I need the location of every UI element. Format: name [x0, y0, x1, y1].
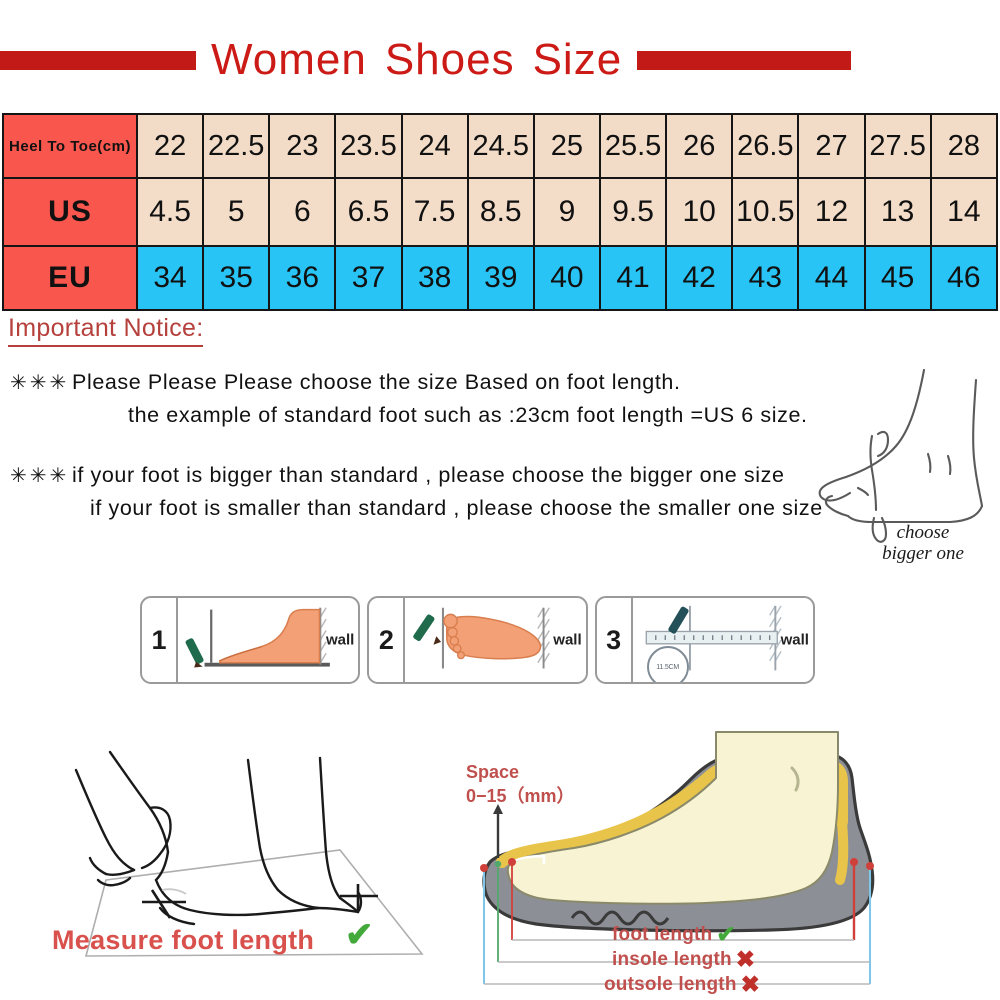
cell-cm-7: 25.5 [600, 114, 666, 178]
notice-list: ✳✳✳ Please Please Please choose the size… [10, 366, 840, 529]
step-number-2: 2 [369, 598, 405, 682]
step-1-illustration: wall [178, 598, 358, 682]
cell-cm-0: 22 [137, 114, 203, 178]
cell-cm-8: 26 [666, 114, 732, 178]
cell-eu-9: 43 [732, 246, 798, 310]
cell-cm-1: 22.5 [203, 114, 269, 178]
step-panel-3: 3 [595, 596, 815, 684]
size-chart-table: Heel To Toe(cm) 22 22.5 23 23.5 24 24.5 … [2, 113, 998, 311]
legend-insole-length: insole length ✖ [612, 947, 760, 972]
title-word-2: Shoes [385, 35, 515, 84]
legend-foot-length-label: foot length [612, 925, 712, 944]
cell-us-2: 6 [269, 178, 335, 246]
step-panel-1: 1 w [140, 596, 360, 684]
cell-us-9: 10.5 [732, 178, 798, 246]
step-3-measure-badge: 11.5CM [647, 646, 689, 684]
notice-1-line-1: Please Please Please choose the size Bas… [72, 370, 681, 394]
notice-bullet-1: ✳✳✳ Please Please Please choose the size… [10, 366, 840, 433]
table-row-eu: EU 34 35 36 37 38 39 40 41 42 43 44 45 4… [3, 246, 997, 310]
cross-mark-icon: ✖ [736, 948, 755, 971]
cell-us-11: 13 [865, 178, 931, 246]
page-title: WomenShoesSize [202, 38, 631, 82]
foot-caption-line-2: bigger one [848, 543, 998, 564]
cell-cm-4: 24 [402, 114, 468, 178]
important-notice-heading: Important Notice: [8, 314, 203, 347]
cell-eu-7: 41 [600, 246, 666, 310]
space-gap-label: Space 0−15（mm） [466, 760, 575, 809]
asterisk-icon: ✳✳✳ [10, 459, 72, 488]
asterisk-icon: ✳✳✳ [10, 366, 72, 395]
notice-2-line-2: if your foot is smaller than standard , … [72, 492, 823, 525]
table-row-heel-to-toe: Heel To Toe(cm) 22 22.5 23 23.5 24 24.5 … [3, 114, 997, 178]
notice-1-line-2: the example of standard foot such as :23… [72, 399, 808, 432]
table-row-us: US 4.5 5 6 6.5 7.5 8.5 9 9.5 10 10.5 12 … [3, 178, 997, 246]
title-word-1: Women [211, 35, 367, 84]
cell-cm-2: 23 [269, 114, 335, 178]
legend-insole-length-label: insole length [612, 950, 732, 969]
cell-eu-10: 44 [798, 246, 864, 310]
cell-cm-12: 28 [931, 114, 997, 178]
cell-eu-1: 35 [203, 246, 269, 310]
measure-foot-illustration [10, 712, 430, 1000]
cell-us-12: 14 [931, 178, 997, 246]
cell-us-1: 5 [203, 178, 269, 246]
title-rule-right [637, 51, 851, 70]
measurement-steps: 1 w [140, 596, 815, 684]
step-3-illustration: 11.5CM wall [633, 598, 813, 682]
cell-eu-11: 45 [865, 246, 931, 310]
check-mark-icon: ✔ [716, 923, 735, 946]
space-label-line-2: 0−15（mm） [466, 784, 575, 808]
page-title-bar: WomenShoesSize [0, 32, 1000, 88]
cell-us-3: 6.5 [335, 178, 401, 246]
cell-cm-6: 25 [534, 114, 600, 178]
cross-mark-icon: ✖ [741, 973, 760, 996]
cell-cm-5: 24.5 [468, 114, 534, 178]
check-mark-icon: ✔ [345, 918, 374, 952]
cell-cm-10: 27 [798, 114, 864, 178]
legend-outsole-length: outsole length ✖ [604, 972, 760, 997]
title-rule-left [0, 51, 196, 70]
foot-caption-line-1: choose [848, 522, 998, 543]
cell-us-4: 7.5 [402, 178, 468, 246]
space-label-line-1: Space [466, 760, 575, 784]
cell-cm-11: 27.5 [865, 114, 931, 178]
legend-foot-length: foot length ✔ [612, 922, 760, 947]
notice-bullet-1-text: Please Please Please choose the size Bas… [72, 366, 808, 433]
cell-eu-2: 36 [269, 246, 335, 310]
notice-bullet-2: ✳✳✳ if your foot is bigger than standard… [10, 459, 840, 526]
cell-us-5: 8.5 [468, 178, 534, 246]
measure-foot-length-label: Measure foot length [52, 925, 314, 956]
cell-us-0: 4.5 [137, 178, 203, 246]
cell-eu-0: 34 [137, 246, 203, 310]
step-panel-2: 2 [367, 596, 587, 684]
cell-us-7: 9.5 [600, 178, 666, 246]
step-1-wall-label: wall [326, 632, 354, 649]
step-2-wall-label: wall [553, 632, 581, 649]
row-label-heel-to-toe: Heel To Toe(cm) [3, 114, 137, 178]
cell-eu-5: 39 [468, 246, 534, 310]
cell-eu-6: 40 [534, 246, 600, 310]
cell-cm-3: 23.5 [335, 114, 401, 178]
cell-cm-9: 26.5 [732, 114, 798, 178]
cell-eu-8: 42 [666, 246, 732, 310]
cell-us-6: 9 [534, 178, 600, 246]
cell-us-10: 12 [798, 178, 864, 246]
foot-sketch-caption: choose bigger one [848, 522, 998, 565]
row-label-us: US [3, 178, 137, 246]
title-word-3: Size [533, 35, 623, 84]
step-2-illustration: wall [405, 598, 585, 682]
row-label-eu: EU [3, 246, 137, 310]
notice-bullet-2-text: if your foot is bigger than standard , p… [72, 459, 823, 526]
cell-eu-3: 37 [335, 246, 401, 310]
step-number-3: 3 [597, 598, 633, 682]
notice-2-line-1: if your foot is bigger than standard , p… [72, 463, 785, 487]
cell-eu-4: 38 [402, 246, 468, 310]
cell-eu-12: 46 [931, 246, 997, 310]
cell-us-8: 10 [666, 178, 732, 246]
legend-outsole-length-label: outsole length [604, 975, 737, 994]
step-number-1: 1 [142, 598, 178, 682]
length-legend: foot length ✔ insole length ✖ outsole le… [612, 922, 760, 997]
step-3-wall-label: wall [781, 632, 809, 649]
